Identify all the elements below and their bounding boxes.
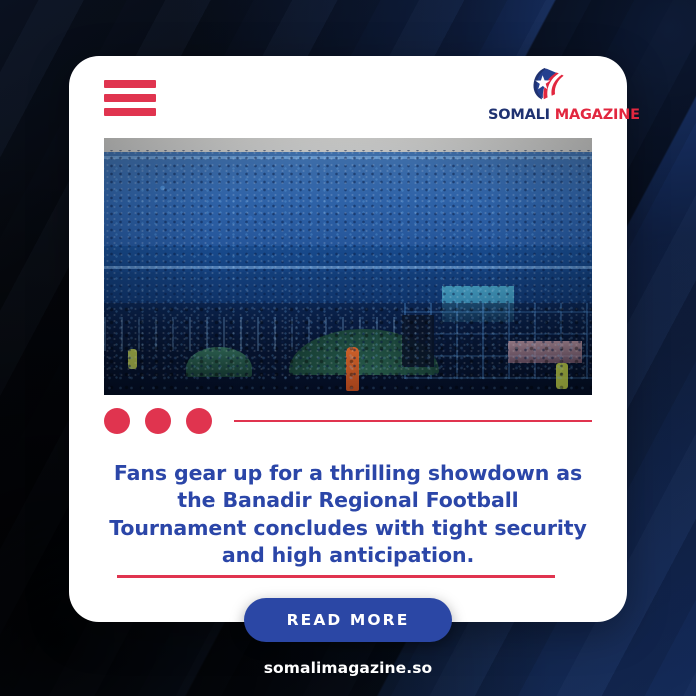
social-post-canvas: SOMALI MAGAZINE (0, 0, 696, 696)
hamburger-menu-icon[interactable] (104, 80, 156, 116)
decorative-dots-row (104, 406, 592, 436)
headline-text: Fans gear up for a thrilling showdown as… (109, 460, 587, 569)
star-shield-icon (488, 61, 604, 105)
brand-logo-text: SOMALI MAGAZINE (488, 108, 604, 123)
decorative-dot-1 (104, 408, 130, 434)
brand-logo[interactable]: SOMALI MAGAZINE (488, 61, 604, 123)
stadium-crowd-photo (104, 138, 592, 395)
decorative-rule-bottom (117, 575, 555, 578)
read-more-button[interactable]: READ MORE (244, 598, 452, 642)
photo-vignette (104, 138, 592, 395)
decorative-dot-3 (186, 408, 212, 434)
brand-logo-word-magazine: MAGAZINE (555, 107, 640, 123)
decorative-rule-top (234, 420, 592, 423)
card-header: SOMALI MAGAZINE (69, 56, 627, 138)
hamburger-bar-2 (104, 94, 156, 102)
hamburger-bar-3 (104, 108, 156, 116)
hamburger-bar-1 (104, 80, 156, 88)
brand-logo-word-somali: SOMALI (488, 107, 550, 123)
decorative-dot-2 (145, 408, 171, 434)
post-card: SOMALI MAGAZINE (69, 56, 627, 622)
site-url-label: somalimagazine.so (0, 659, 696, 677)
